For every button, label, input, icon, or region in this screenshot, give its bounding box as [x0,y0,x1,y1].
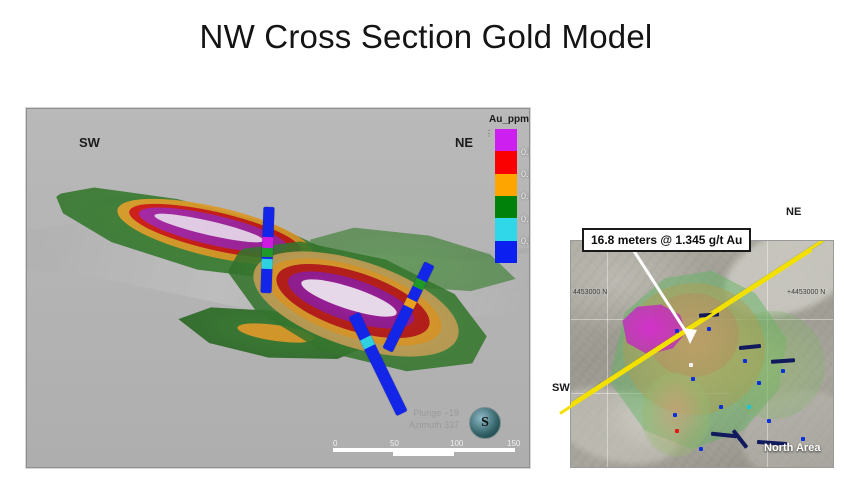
legend-color-ramp [495,129,517,263]
plunge-value: Plunge −19 [349,407,459,419]
legend-tick-0: 0.5 [521,147,530,157]
legend-tick-1: 0.3 [521,169,530,179]
azimuth-value: Azimuth 337 [349,419,459,431]
map-orientation-label-ne: NE [786,206,801,218]
scale-tick-1: 50 [390,439,399,448]
plan-map-panel[interactable]: 4453000 N +4453000 N [570,240,834,468]
legend-swatch-4 [495,218,517,240]
drill-collar-cyan[interactable] [747,405,751,409]
drill-collar[interactable] [675,329,679,333]
view-orientation-info: Plunge −19 Azimuth 337 [349,407,459,431]
legend-swatch-2 [495,174,517,196]
scale-bar-segment [393,452,454,456]
drill-collar[interactable] [707,327,711,331]
scale-bar: 0 50 100 150 [333,439,515,457]
drill-collar[interactable] [673,413,677,417]
legend-swatch-1 [495,151,517,173]
legend-tick-2: 0.2 [521,191,530,201]
coordinate-label-left: 4453000 N [573,289,607,296]
orientation-label-sw: SW [79,135,100,150]
compass-icon[interactable]: S [469,407,501,439]
legend-tick-labels: 0.5 0.3 0.2 0.1 0.05 [521,129,530,263]
slide-root: NW Cross Section Gold Model [0,0,852,477]
map-gridline-vertical-1 [607,241,608,467]
scale-tick-2: 100 [450,439,463,448]
assay-interval-mid [262,248,273,257]
assay-interval-high [262,237,273,248]
drill-collar[interactable] [767,419,771,423]
legend-panel[interactable]: Au_ppm × ⋮⋮ 0.5 0.3 0.2 0.1 0.05 [489,112,530,272]
legend-tick-4: 0.05 [521,236,530,246]
assay-callout: 16.8 meters @ 1.345 g/t Au [582,228,751,252]
legend-header: Au_ppm × [489,112,530,127]
drill-collar[interactable] [743,359,747,363]
cross-section-panel[interactable]: SW NE Au_ppm × ⋮⋮ 0.5 0.3 0.2 0.1 [26,108,530,468]
drill-collar[interactable] [719,405,723,409]
legend-swatch-5 [495,241,517,263]
scale-tick-3: 150 [507,439,520,448]
map-orientation-label-sw: SW [552,382,570,394]
drill-collar-highlight[interactable] [675,429,679,433]
drill-collar[interactable] [801,437,805,441]
legend-title: Au_ppm [489,114,529,125]
scale-tick-0: 0 [333,439,337,448]
drill-collar-target[interactable] [689,363,693,367]
page-title: NW Cross Section Gold Model [0,18,852,56]
legend-swatch-3 [495,196,517,218]
area-label: North Area [764,442,820,454]
legend-tick-3: 0.1 [521,214,530,224]
assay-interval-low [261,259,272,269]
legend-swatch-0 [495,129,517,151]
drill-collar[interactable] [781,369,785,373]
coordinate-label-right: +4453000 N [787,289,825,296]
orientation-label-ne: NE [455,135,473,150]
drill-collar[interactable] [699,447,703,451]
drill-collar[interactable] [691,377,695,381]
drill-collar[interactable] [757,381,761,385]
